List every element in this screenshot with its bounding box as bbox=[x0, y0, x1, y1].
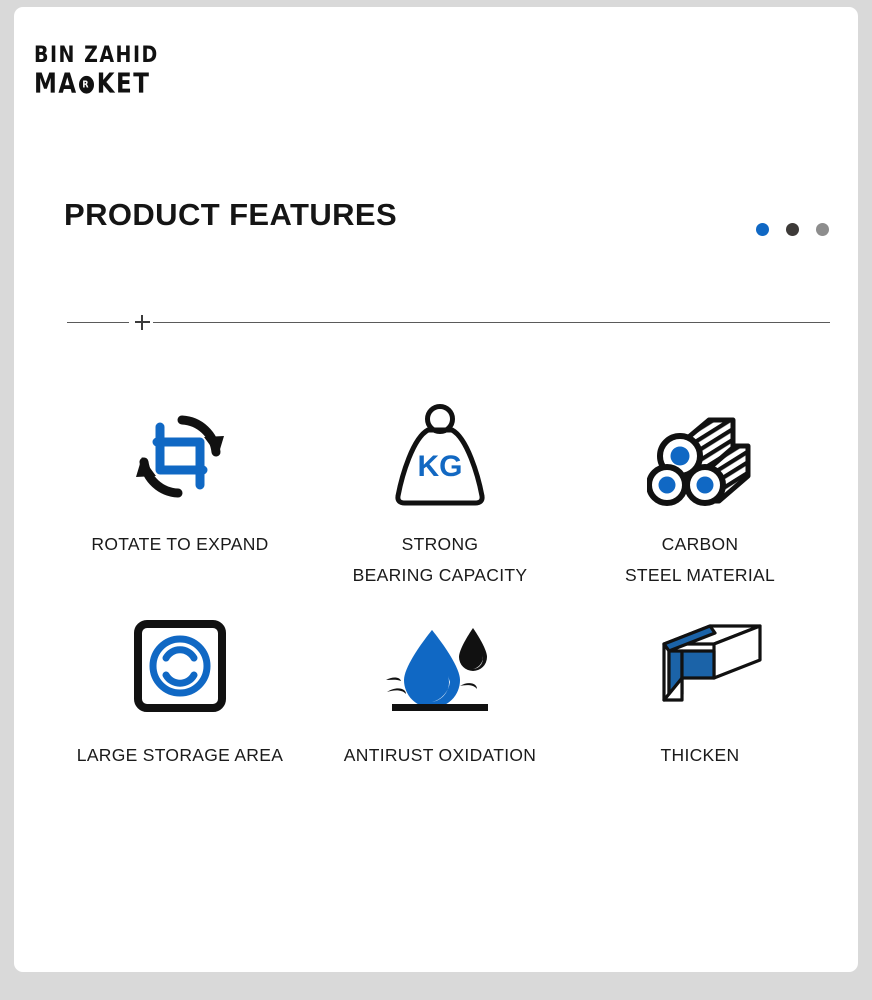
weight-icon-text: KG bbox=[418, 450, 463, 483]
steel-tubes-icon bbox=[647, 406, 753, 506]
surface-bar bbox=[392, 704, 488, 711]
feature-label: STRONG BEARING CAPACITY bbox=[353, 529, 528, 591]
weight-kg-icon: KG bbox=[389, 402, 491, 510]
feature-grid: ROTATE TO EXPAND KG STRONG BEARING CAPAC… bbox=[50, 397, 830, 802]
registered-mark-icon: R bbox=[79, 75, 96, 95]
feature-icon-wrapper bbox=[125, 397, 235, 515]
feature-icon-wrapper bbox=[647, 397, 753, 515]
storage-inner-arcs bbox=[166, 650, 194, 684]
angle-bar-icon bbox=[636, 620, 764, 712]
feature-label: LARGE STORAGE AREA bbox=[77, 740, 283, 771]
feature-label: CARBON STEEL MATERIAL bbox=[625, 529, 775, 591]
feature-icon-wrapper bbox=[636, 612, 764, 720]
carousel-dot-3[interactable] bbox=[816, 223, 829, 236]
page-title: PRODUCT FEATURES bbox=[64, 197, 397, 233]
section-divider bbox=[67, 322, 830, 323]
carousel-dot-2[interactable] bbox=[786, 223, 799, 236]
divider-rule-right bbox=[153, 322, 830, 323]
registered-mark-letter: R bbox=[79, 76, 94, 94]
carousel-dot-1[interactable] bbox=[756, 223, 769, 236]
storage-square-icon bbox=[133, 619, 227, 713]
water-drop-icon bbox=[382, 618, 498, 714]
brand-logo-line-1: BIN ZAHID bbox=[34, 43, 314, 68]
brand-logo-line-2-before: MA bbox=[34, 69, 78, 100]
drop-small-top bbox=[459, 628, 487, 671]
feature-item-large-storage-area: LARGE STORAGE AREA bbox=[50, 612, 310, 802]
brand-logo-line-2: MARKET bbox=[34, 70, 314, 100]
feature-item-thicken: THICKEN bbox=[570, 612, 830, 802]
rotate-crop-icon bbox=[125, 404, 235, 508]
brand-logo: BIN ZAHID MARKET bbox=[34, 43, 314, 95]
brand-logo-line-2-after: KET bbox=[97, 69, 151, 100]
feature-item-carbon-steel-material: CARBON STEEL MATERIAL bbox=[570, 397, 830, 612]
divider-rule-left bbox=[67, 322, 129, 323]
feature-item-strong-bearing-capacity: KG STRONG BEARING CAPACITY bbox=[310, 397, 570, 612]
feature-icon-wrapper bbox=[133, 612, 227, 720]
angle-bar-blue-arm bbox=[682, 651, 714, 678]
crop-marks bbox=[157, 427, 203, 485]
carousel-dots[interactable] bbox=[756, 223, 829, 236]
feature-label: ROTATE TO EXPAND bbox=[91, 529, 268, 560]
feature-label: ANTIRUST OXIDATION bbox=[344, 740, 536, 771]
feature-icon-wrapper: KG bbox=[389, 397, 491, 515]
product-features-card: BIN ZAHID MARKET PRODUCT FEATURES bbox=[14, 7, 858, 972]
feature-item-rotate-to-expand: ROTATE TO EXPAND bbox=[50, 397, 310, 612]
plus-marker-icon bbox=[135, 315, 150, 330]
feature-label: THICKEN bbox=[661, 740, 740, 771]
drop-main bbox=[404, 630, 460, 708]
feature-icon-wrapper bbox=[382, 612, 498, 720]
feature-item-antirust-oxidation: ANTIRUST OXIDATION bbox=[310, 612, 570, 802]
